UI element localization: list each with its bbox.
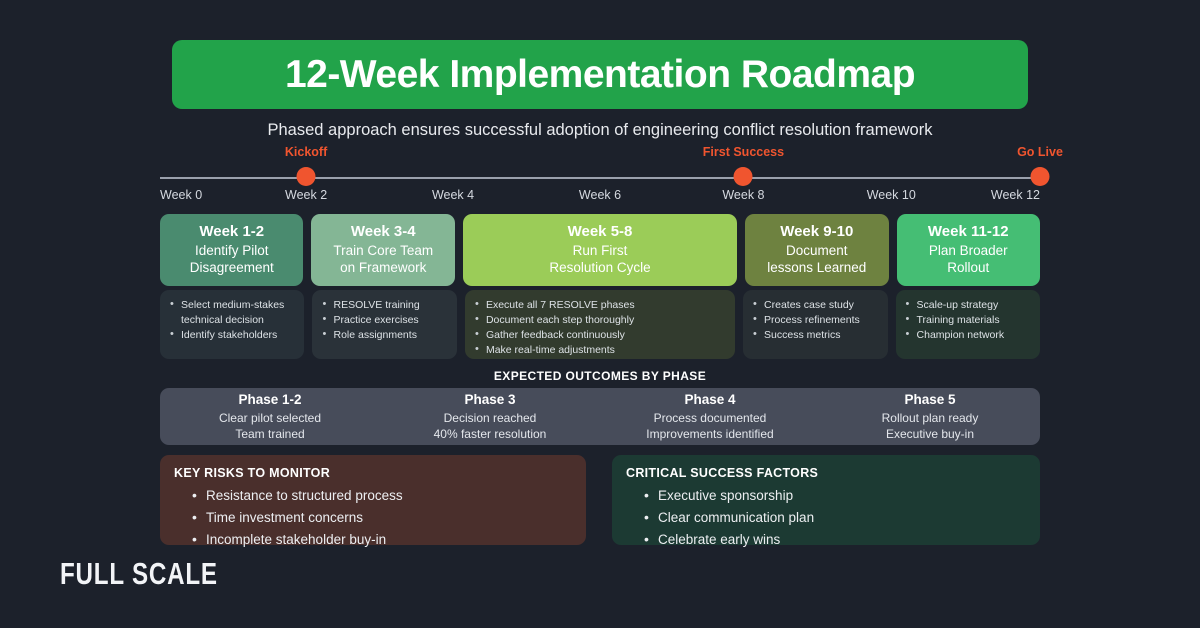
timeline-milestone-label: Go Live bbox=[1017, 145, 1063, 159]
phase-card-title-line1: Plan Broader bbox=[929, 242, 1008, 260]
timeline-milestone-label: First Success bbox=[703, 145, 784, 159]
phase-detail-item: Document each step thoroughly bbox=[473, 313, 725, 328]
timeline-week-label: Week 6 bbox=[579, 188, 621, 202]
title-banner: 12-Week Implementation Roadmap bbox=[172, 40, 1028, 109]
key-risk-item: Time investment concerns bbox=[192, 507, 572, 529]
success-factors-list: Executive sponsorshipClear communication… bbox=[626, 485, 1026, 551]
success-factor-item: Celebrate early wins bbox=[644, 529, 1026, 551]
phase-card-week: Week 1-2 bbox=[199, 223, 264, 242]
outcome-detail-line: Rollout plan ready bbox=[882, 410, 979, 426]
timeline-week-label: Week 2 bbox=[285, 188, 327, 202]
phase-card-week: Week 5-8 bbox=[568, 223, 633, 242]
outcome-phase-label: Phase 1-2 bbox=[238, 391, 301, 409]
phase-card-title-line1: Identify Pilot bbox=[195, 242, 269, 260]
phase-card-title-line2: lessons Learned bbox=[767, 259, 866, 277]
page-title: 12-Week Implementation Roadmap bbox=[285, 53, 915, 97]
outcome-detail-line: Decision reached bbox=[444, 410, 537, 426]
phase-detail-item: Role assignments bbox=[320, 328, 446, 343]
phase-detail-box: RESOLVE trainingPractice exercisesRole a… bbox=[312, 290, 456, 359]
phase-card[interactable]: Week 1-2Identify PilotDisagreement bbox=[160, 214, 303, 286]
outcome-phase-label: Phase 3 bbox=[464, 391, 515, 409]
phase-card-week: Week 11-12 bbox=[928, 223, 1009, 242]
phase-detail-item: Process refinements bbox=[751, 313, 877, 328]
outcome-column: Phase 1-2Clear pilot selectedTeam traine… bbox=[160, 388, 380, 445]
phase-detail-item: Practice exercises bbox=[320, 313, 446, 328]
phase-card-week: Week 3-4 bbox=[351, 223, 416, 242]
phase-card-title-line2: Rollout bbox=[947, 259, 989, 277]
phase-detail-list: Creates case studyProcess refinementsSuc… bbox=[751, 298, 877, 343]
phase-detail-item: Gather feedback continuously bbox=[473, 328, 725, 343]
phase-detail-item: RESOLVE training bbox=[320, 298, 446, 313]
phase-card-title-line1: Train Core Team bbox=[333, 242, 433, 260]
phase-card-title-line2: Resolution Cycle bbox=[549, 259, 650, 277]
timeline: KickoffFirst SuccessGo Live Week 0Week 2… bbox=[160, 150, 1040, 210]
phase-detail-box: Creates case studyProcess refinementsSuc… bbox=[743, 290, 887, 359]
key-risks-list: Resistance to structured processTime inv… bbox=[174, 485, 572, 551]
phase-card-week: Week 9-10 bbox=[780, 223, 853, 242]
success-factors-panel: CRITICAL SUCCESS FACTORS Executive spons… bbox=[612, 455, 1040, 545]
phase-detail-list: Scale-up strategyTraining materialsChamp… bbox=[904, 298, 1030, 343]
phase-detail-item: Training materials bbox=[904, 313, 1030, 328]
key-risk-item: Resistance to structured process bbox=[192, 485, 572, 507]
timeline-axis bbox=[160, 177, 1040, 179]
timeline-milestone-dot bbox=[1031, 167, 1050, 186]
phase-card[interactable]: Week 9-10Documentlessons Learned bbox=[745, 214, 888, 286]
outcomes-heading: EXPECTED OUTCOMES BY PHASE bbox=[0, 369, 1200, 383]
phase-card[interactable]: Week 11-12Plan BroaderRollout bbox=[897, 214, 1040, 286]
timeline-milestone-dot bbox=[734, 167, 753, 186]
outcome-phase-label: Phase 5 bbox=[904, 391, 955, 409]
outcome-detail-line: Executive buy-in bbox=[886, 426, 974, 442]
phase-detail-row: Select medium-stakes technical decisionI… bbox=[160, 290, 1040, 359]
key-risks-panel: KEY RISKS TO MONITOR Resistance to struc… bbox=[160, 455, 586, 545]
key-risks-heading: KEY RISKS TO MONITOR bbox=[174, 466, 572, 480]
timeline-week-label: Week 12 bbox=[991, 188, 1040, 202]
outcome-column: Phase 5Rollout plan readyExecutive buy-i… bbox=[820, 388, 1040, 445]
phase-card-title-line1: Run First bbox=[573, 242, 628, 260]
phase-detail-item: Creates case study bbox=[751, 298, 877, 313]
timeline-milestone: Go Live bbox=[1031, 167, 1050, 186]
outcomes-bar: Phase 1-2Clear pilot selectedTeam traine… bbox=[160, 388, 1040, 445]
phase-card-title-line2: Disagreement bbox=[190, 259, 274, 277]
timeline-week-label: Week 4 bbox=[432, 188, 474, 202]
phase-card[interactable]: Week 5-8Run FirstResolution Cycle bbox=[463, 214, 737, 286]
timeline-milestone-label: Kickoff bbox=[285, 145, 327, 159]
phase-detail-box: Execute all 7 RESOLVE phasesDocument eac… bbox=[465, 290, 735, 359]
phase-card-row: Week 1-2Identify PilotDisagreementWeek 3… bbox=[160, 214, 1040, 286]
phase-detail-item: Make real-time adjustments bbox=[473, 343, 725, 358]
timeline-week-label: Week 0 bbox=[160, 188, 202, 202]
key-risk-item: Incomplete stakeholder buy-in bbox=[192, 529, 572, 551]
success-factor-item: Executive sponsorship bbox=[644, 485, 1026, 507]
outcome-detail-line: Clear pilot selected bbox=[219, 410, 321, 426]
outcome-column: Phase 4Process documentedImprovements id… bbox=[600, 388, 820, 445]
timeline-milestone-dot bbox=[297, 167, 316, 186]
phase-card-title-line2: on Framework bbox=[340, 259, 426, 277]
phase-detail-item: Select medium-stakes technical decision bbox=[168, 298, 294, 328]
outcome-column: Phase 3Decision reached40% faster resolu… bbox=[380, 388, 600, 445]
outcome-detail-line: 40% faster resolution bbox=[434, 426, 547, 442]
success-factor-item: Clear communication plan bbox=[644, 507, 1026, 529]
timeline-milestone: Kickoff bbox=[297, 167, 316, 186]
phase-detail-item: Champion network bbox=[904, 328, 1030, 343]
full-scale-logo: FULL SCALE bbox=[60, 556, 218, 592]
phase-detail-item: Success metrics bbox=[751, 328, 877, 343]
phase-detail-list: Select medium-stakes technical decisionI… bbox=[168, 298, 294, 343]
phase-detail-item: Identify stakeholders bbox=[168, 328, 294, 343]
timeline-week-label: Week 10 bbox=[867, 188, 916, 202]
outcome-detail-line: Process documented bbox=[654, 410, 767, 426]
phase-card-title-line1: Document bbox=[786, 242, 848, 260]
timeline-week-label: Week 8 bbox=[722, 188, 764, 202]
phase-detail-box: Select medium-stakes technical decisionI… bbox=[160, 290, 304, 359]
outcome-phase-label: Phase 4 bbox=[684, 391, 735, 409]
page-subtitle: Phased approach ensures successful adopt… bbox=[0, 121, 1200, 140]
phase-detail-list: RESOLVE trainingPractice exercisesRole a… bbox=[320, 298, 446, 343]
phase-card[interactable]: Week 3-4Train Core Teamon Framework bbox=[311, 214, 454, 286]
outcome-detail-line: Improvements identified bbox=[646, 426, 773, 442]
phase-detail-item: Execute all 7 RESOLVE phases bbox=[473, 298, 725, 313]
outcome-detail-line: Team trained bbox=[235, 426, 304, 442]
success-factors-heading: CRITICAL SUCCESS FACTORS bbox=[626, 466, 1026, 480]
phase-detail-list: Execute all 7 RESOLVE phasesDocument eac… bbox=[473, 298, 725, 358]
phase-detail-item: Scale-up strategy bbox=[904, 298, 1030, 313]
phase-detail-box: Scale-up strategyTraining materialsChamp… bbox=[896, 290, 1040, 359]
timeline-milestone: First Success bbox=[734, 167, 753, 186]
